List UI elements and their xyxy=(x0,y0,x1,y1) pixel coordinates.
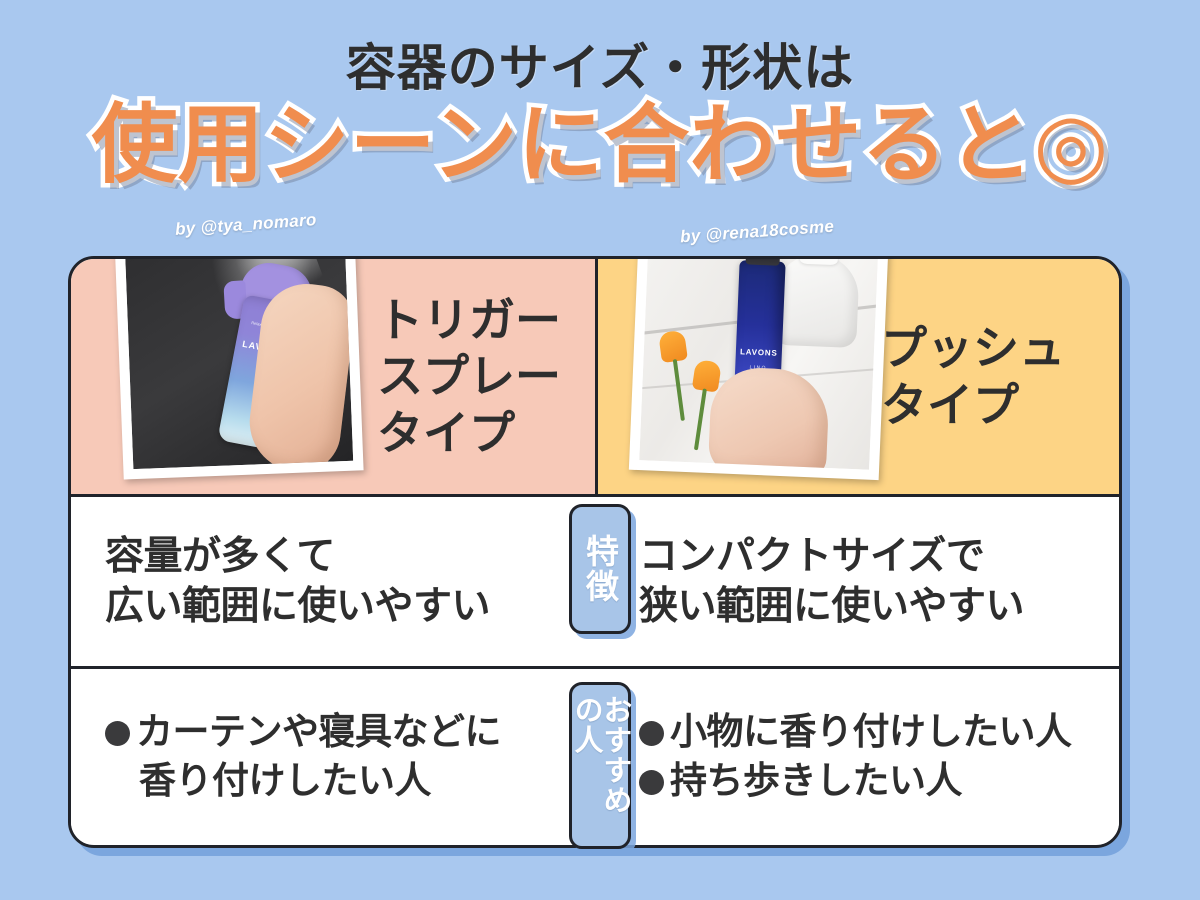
table-header-row: Relaxing Rebornat LAVONS トリガー スプレー タイプ xyxy=(71,259,1119,497)
column-header-trigger-spray: Relaxing Rebornat LAVONS トリガー スプレー タイプ xyxy=(71,259,595,494)
list-item-label: 香り付けしたい人 xyxy=(139,760,431,801)
bullet-icon xyxy=(105,721,130,746)
feature-text-trigger-spray: 容量が多くて 広い範囲に使いやすい xyxy=(105,532,490,632)
photo-frame: LAVONS LINO xyxy=(639,256,879,470)
photo-trigger-spray: Relaxing Rebornat LAVONS xyxy=(114,256,363,480)
photo-credit-push-type: by @rena18cosme xyxy=(679,217,834,248)
tulip-flower xyxy=(691,359,721,392)
list-item-label: カーテンや寝具などに xyxy=(136,711,501,752)
photo-art: Relaxing Rebornat LAVONS xyxy=(125,256,353,469)
bullet-icon xyxy=(639,770,664,795)
bottle-cap xyxy=(746,256,782,266)
photo-credit-trigger-spray: by @tya_nomaro xyxy=(174,210,317,240)
type-label-push-type: プッシュ タイプ xyxy=(881,320,1119,432)
column-header-push-type: LAVONS LINO プッシュ タイプ xyxy=(595,259,1119,494)
list-item: 持ち歩きしたい人 xyxy=(639,757,1072,805)
row-badge-recommended: おすすめの人 xyxy=(569,682,631,849)
photo-push-type: LAVONS LINO xyxy=(629,256,889,480)
recommended-list-trigger-spray: カーテンや寝具などに 香り付けしたい人 xyxy=(105,708,501,804)
recommended-cell-push-type: 小物に香り付けしたい人 持ち歩きしたい人 xyxy=(595,669,1119,844)
photo-art: LAVONS LINO xyxy=(639,256,879,470)
recommended-list-push-type: 小物に香り付けしたい人 持ち歩きしたい人 xyxy=(639,708,1072,804)
row-badge-feature: 特徴 xyxy=(569,504,631,634)
recommended-cell-trigger-spray: カーテンや寝具などに 香り付けしたい人 xyxy=(71,669,595,844)
feature-text-push-type: コンパクトサイズで 狭い範囲に使いやすい xyxy=(639,532,1024,632)
list-item-continuation: 香り付けしたい人 xyxy=(105,757,501,805)
tulip-flower xyxy=(658,330,688,363)
bottle-brand: LAVONS xyxy=(736,347,782,358)
infographic-canvas: 容器のサイズ・形状は 使用シーンに合わせると◎ Relaxing Reborna… xyxy=(0,0,1200,900)
bullet-icon xyxy=(639,721,664,746)
list-item-label: 小物に香り付けしたい人 xyxy=(670,711,1072,752)
list-item-label: 持ち歩きしたい人 xyxy=(670,760,962,801)
title-heading: 使用シーンに合わせると◎ xyxy=(0,101,1200,190)
title-subheading: 容器のサイズ・形状は xyxy=(0,42,1200,95)
hand xyxy=(708,366,830,470)
feature-cell-push-type: コンパクトサイズで 狭い範囲に使いやすい xyxy=(595,497,1119,666)
list-item: 小物に香り付けしたい人 xyxy=(639,708,1072,756)
row-badge-recommended-label: おすすめの人 xyxy=(571,695,629,836)
feature-cell-trigger-spray: 容量が多くて 広い範囲に使いやすい xyxy=(71,497,595,666)
photo-frame: Relaxing Rebornat LAVONS xyxy=(125,256,353,469)
row-badge-feature-label: 特徴 xyxy=(584,534,617,604)
type-label-trigger-spray: トリガー スプレー タイプ xyxy=(377,292,595,460)
title-block: 容器のサイズ・形状は 使用シーンに合わせると◎ xyxy=(0,42,1200,190)
list-item: カーテンや寝具などに xyxy=(105,708,501,756)
